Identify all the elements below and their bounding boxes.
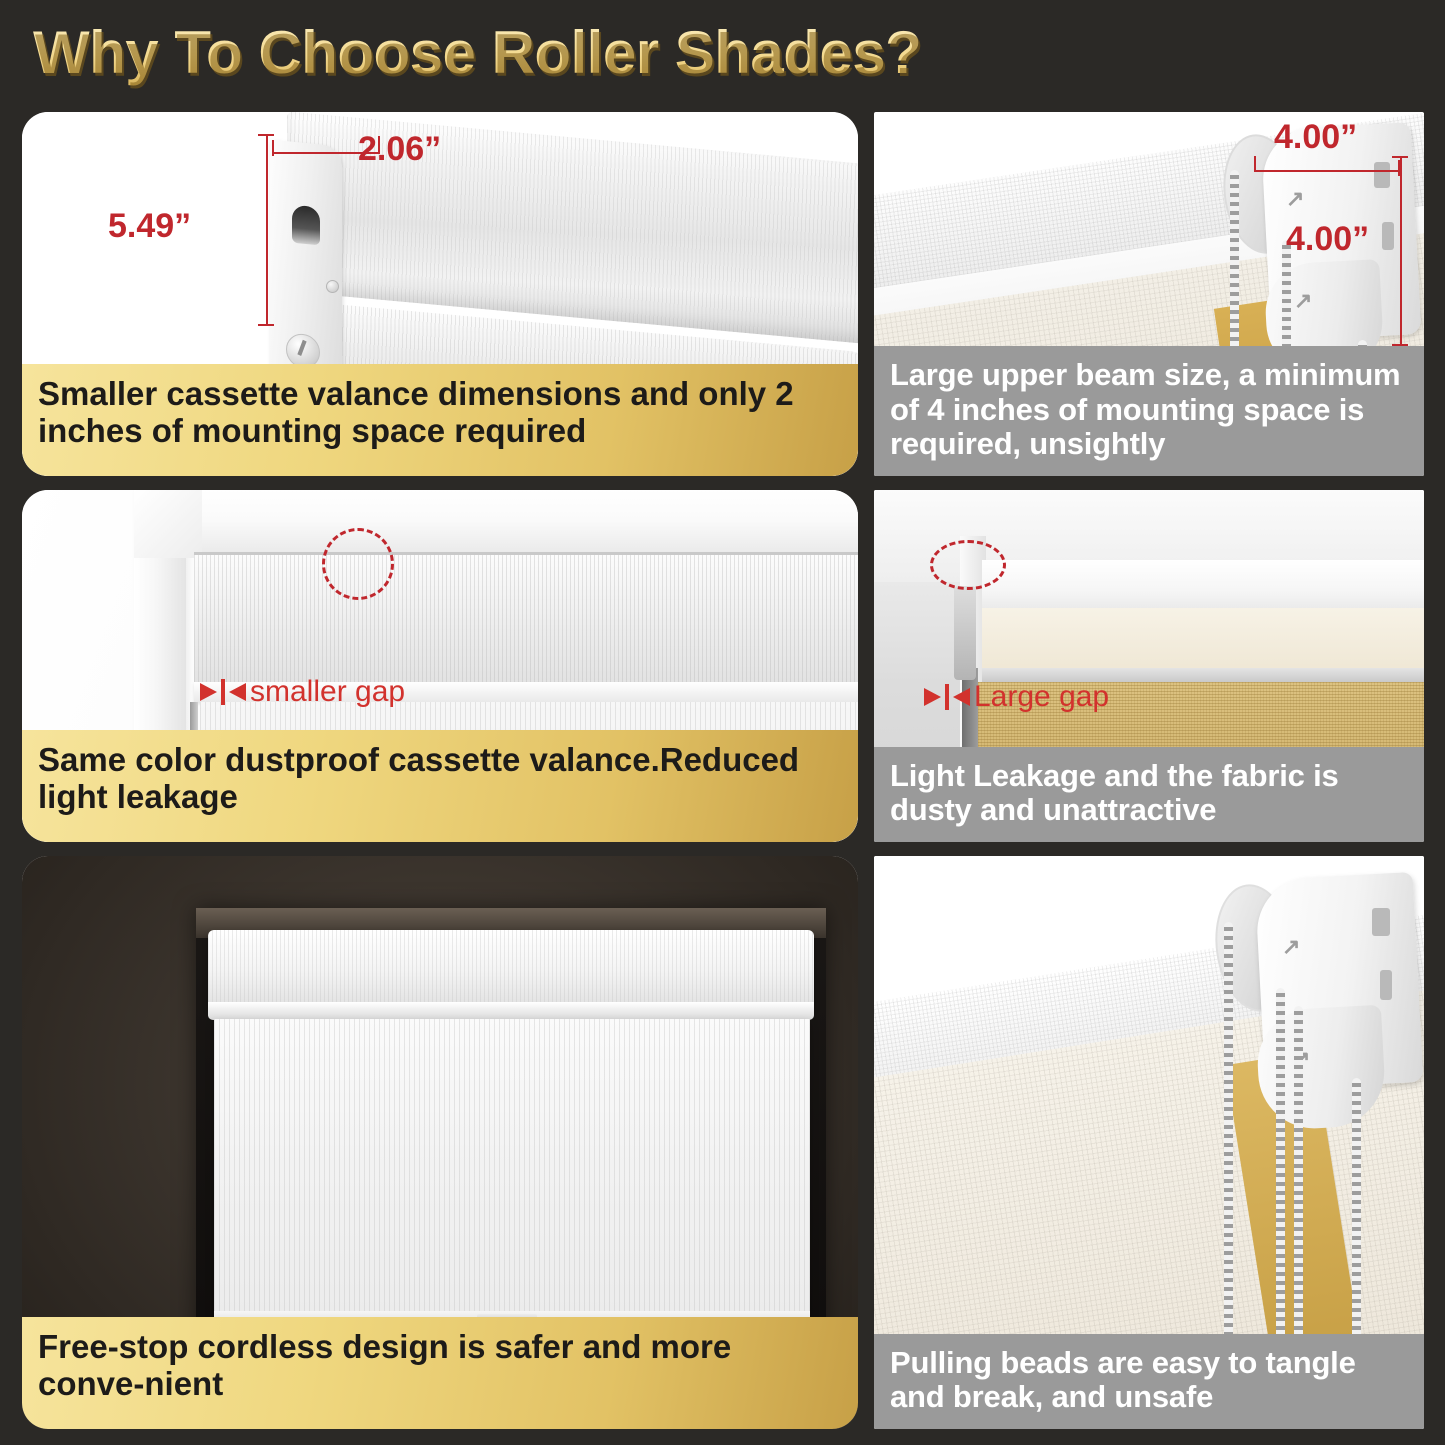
- bead-chain-mid-2: [1294, 1006, 1303, 1388]
- bead-chain-mid: [1276, 988, 1285, 1388]
- panel-1-caption: Smaller cassette valance dimensions and …: [22, 364, 858, 476]
- smaller-gap-label: smaller gap: [250, 675, 405, 709]
- highlight-circle-icon: [930, 540, 1006, 590]
- height-dimension-cap-bottom: [258, 324, 274, 326]
- window-frame-corner: [134, 490, 202, 558]
- window-frame-top: [134, 490, 858, 558]
- beam-height-cap-top: [1392, 156, 1408, 158]
- cassette-valance: [194, 552, 858, 690]
- arrow-left-icon: [953, 688, 970, 706]
- panel-3-caption: Same color dustproof cassette valance.Re…: [22, 730, 858, 842]
- panel-4-light-leakage[interactable]: Large gap Light Leakage and the fabric i…: [874, 490, 1424, 842]
- bracket-tab-bottom: [1382, 222, 1394, 250]
- bracket-arrow-icon-top: ↗: [1282, 934, 1300, 960]
- beam-width-label: 4.00”: [1274, 118, 1357, 157]
- arrow-right-icon: [200, 683, 217, 701]
- arrow-right-icon: [924, 688, 941, 706]
- beam-height-label: 4.00”: [1286, 220, 1369, 259]
- bracket-arrow-icon-top: ↗: [1286, 186, 1304, 212]
- gap-tick: [945, 684, 949, 710]
- bracket-slot: [292, 205, 320, 246]
- bracket-screw-icon: [326, 280, 339, 293]
- bracket-arrow-icon-bottom: ↗: [1294, 288, 1312, 314]
- panel-5-cordless-design[interactable]: Free-stop cordless design is safer and m…: [22, 856, 858, 1429]
- width-dimension-cap-left: [272, 140, 274, 156]
- panel-3-dustproof-cassette[interactable]: smaller gap Same color dustproof cassett…: [22, 490, 858, 842]
- comparison-grid: 2.06” 5.49” Smaller cassette valance dim…: [0, 104, 1445, 1445]
- highlight-circle-icon: [322, 528, 394, 600]
- header-bar: Why To Choose Roller Shades?: [0, 0, 1445, 104]
- panel-4-caption: Light Leakage and the fabric is dusty an…: [874, 747, 1424, 842]
- page-title: Why To Choose Roller Shades?: [33, 18, 921, 87]
- large-gap-annotation: Large gap: [924, 680, 1109, 714]
- beam-face: [982, 608, 1424, 674]
- cassette-valance-lip: [208, 1002, 814, 1020]
- panel-6-caption: Pulling beads are easy to tangle and bre…: [874, 1334, 1424, 1429]
- bead-chain-left: [1224, 922, 1233, 1388]
- width-dimension-label: 2.06”: [358, 130, 441, 169]
- gap-tick: [221, 679, 225, 705]
- bracket-tab-top: [1374, 162, 1390, 188]
- height-dimension-label: 5.49”: [108, 207, 191, 246]
- height-dimension-line: [266, 134, 268, 326]
- panel-5-caption: Free-stop cordless design is safer and m…: [22, 1317, 858, 1429]
- cassette-valance: [208, 930, 814, 1008]
- shade-fabric: [214, 1019, 810, 1319]
- smaller-gap-annotation: smaller gap: [200, 675, 405, 709]
- height-dimension-cap-top: [258, 134, 274, 136]
- panel-6-pulling-beads[interactable]: ↗ ↗ Pulling beads are easy to tangle and…: [874, 856, 1424, 1429]
- bracket-clip: [954, 586, 976, 680]
- large-gap-label: Large gap: [974, 680, 1109, 714]
- bracket-tab-bottom: [1380, 970, 1392, 1000]
- arrow-left-icon: [229, 683, 246, 701]
- beam-height-dimension-line: [1400, 156, 1402, 346]
- panel-2-caption: Large upper beam size, a minimum of 4 in…: [874, 346, 1424, 476]
- bracket-tab-top: [1372, 908, 1390, 936]
- panel-2-large-upper-beam[interactable]: ↗ ↗ 4.00” 4.00” Large upper beam size, a…: [874, 112, 1424, 476]
- panel-1-smaller-cassette[interactable]: 2.06” 5.49” Smaller cassette valance dim…: [22, 112, 858, 476]
- beam-width-cap-left: [1254, 156, 1256, 172]
- beam-width-dimension-line: [1254, 170, 1400, 172]
